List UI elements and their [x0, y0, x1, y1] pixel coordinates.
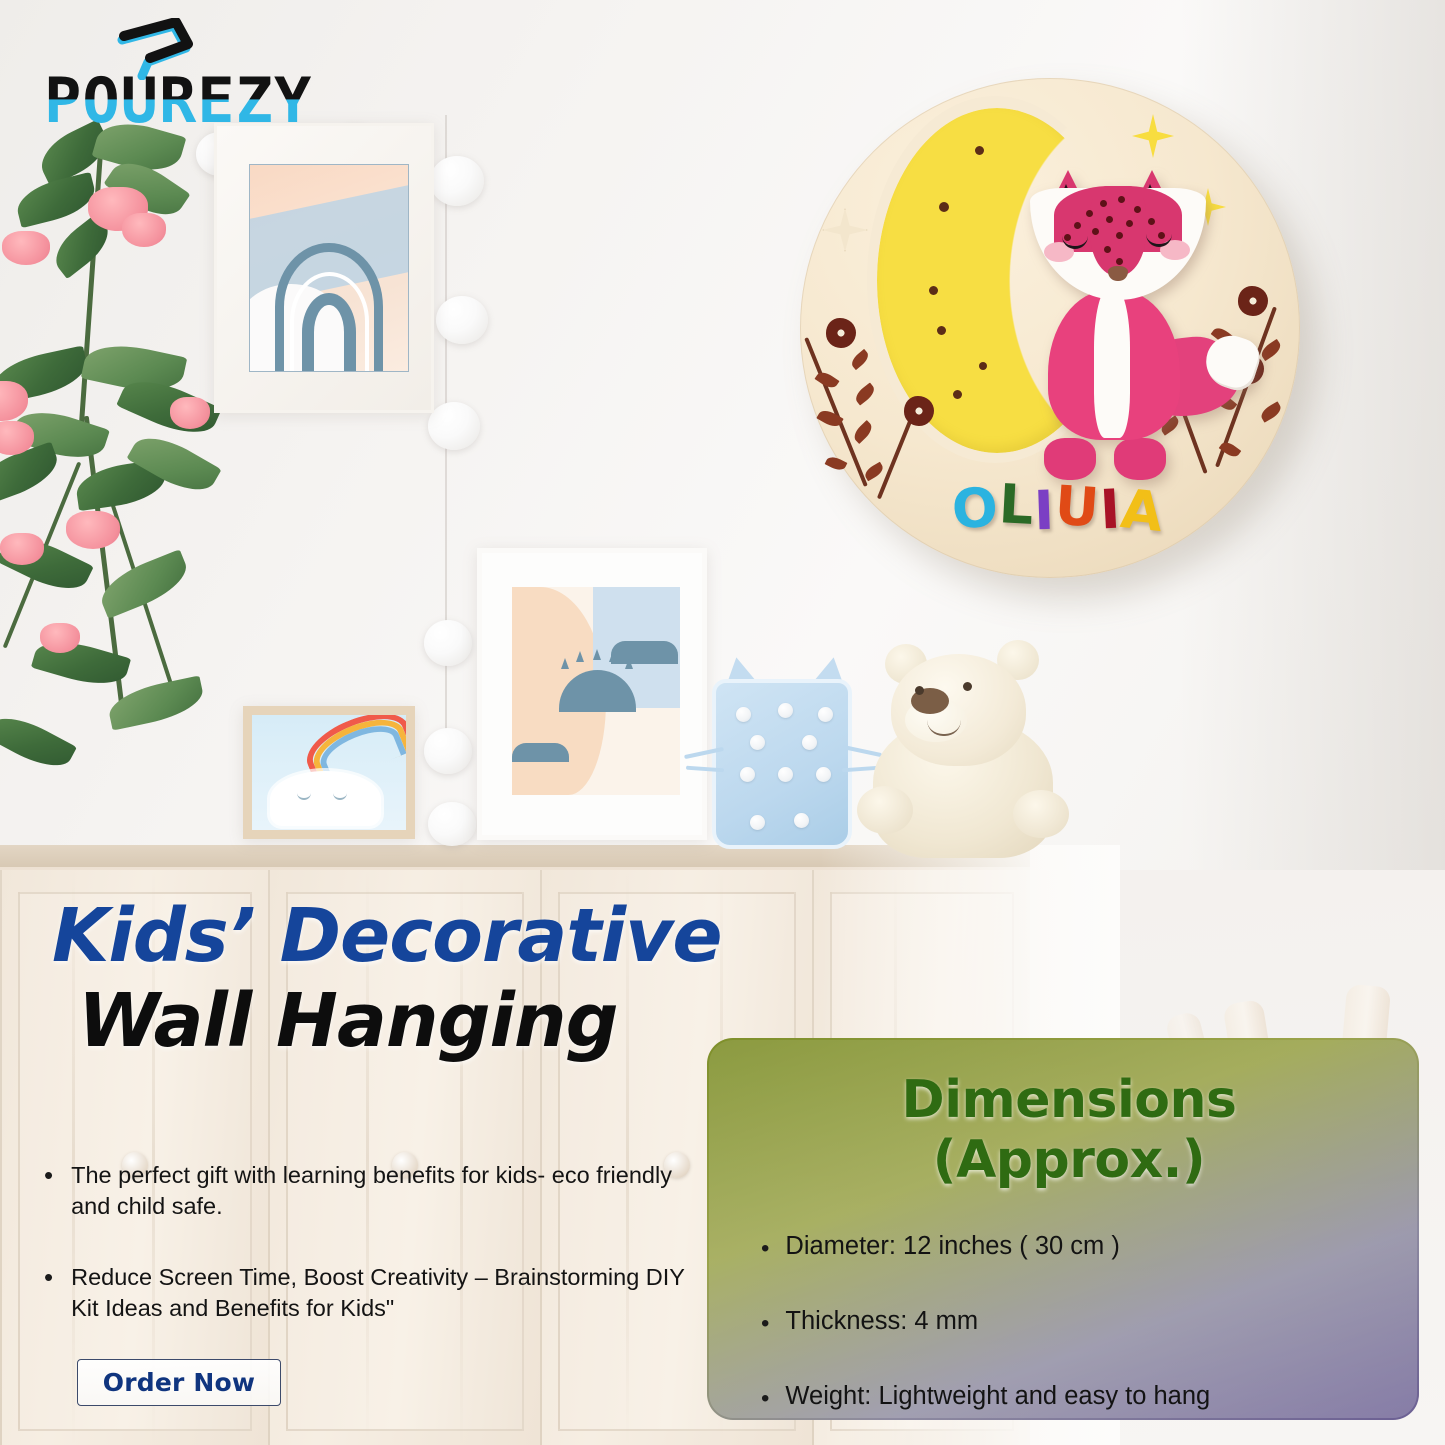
flower-sprig-left: [820, 318, 960, 498]
bullet-icon: •: [44, 1160, 53, 1222]
pom-pom-light: [428, 802, 476, 846]
pom-pom-light: [436, 296, 488, 344]
teddy-bear: [855, 640, 1070, 855]
pom-pom-light: [424, 728, 472, 774]
headline-line-2: Wall Hanging: [78, 980, 812, 1063]
brand-logo[interactable]: POUREZY: [34, 14, 364, 134]
feature-text: The perfect gift with learning benefits …: [71, 1160, 704, 1222]
name-letter: I: [1099, 483, 1121, 538]
feature-item: • The perfect gift with learning benefit…: [44, 1160, 704, 1222]
flower-icon: [1238, 286, 1268, 316]
name-letter: L: [998, 477, 1034, 533]
dimension-item: • Weight: Lightweight and easy to hang: [761, 1382, 1377, 1411]
brand-logo-text: POUREZY: [44, 70, 312, 132]
boho-rainbow-print: [214, 123, 434, 413]
dimensions-panel: Dimensions (Approx.) • Diameter: 12 inch…: [707, 1038, 1419, 1420]
sun-print: [477, 548, 707, 840]
star-icon-large: [1132, 114, 1174, 158]
dimension-text: Diameter: 12 inches ( 30 cm ): [785, 1232, 1119, 1261]
order-now-button[interactable]: Order Now: [77, 1359, 281, 1406]
dimension-text: Weight: Lightweight and easy to hang: [785, 1382, 1210, 1411]
name-letter: I: [1033, 484, 1054, 539]
bullet-icon: •: [44, 1262, 53, 1324]
fox-figure: [1018, 170, 1223, 480]
bullet-icon: •: [761, 1232, 769, 1261]
pom-pom-light: [424, 620, 472, 666]
bullet-icon: •: [761, 1307, 769, 1336]
name-letter: U: [1054, 479, 1101, 536]
feature-item: • Reduce Screen Time, Boost Creativity –…: [44, 1262, 704, 1324]
dimension-item: • Diameter: 12 inches ( 30 cm ): [761, 1232, 1377, 1261]
fox-head: [1030, 170, 1206, 300]
pom-pom-light: [428, 402, 480, 450]
dimension-item: • Thickness: 4 mm: [761, 1307, 1377, 1336]
begonia-plant: [0, 125, 230, 825]
flower-icon: [904, 396, 934, 426]
headline: Kids’ Decorative Wall Hanging: [52, 898, 812, 1063]
dimension-text: Thickness: 4 mm: [785, 1307, 978, 1336]
cat-marquee-light: [700, 655, 865, 850]
name-letter: A: [1119, 482, 1165, 540]
feature-list: • The perfect gift with learning benefit…: [44, 1160, 704, 1364]
fox-chest: [1094, 288, 1130, 438]
pom-pom-light: [430, 156, 484, 206]
personalized-name: OLIUIA: [952, 476, 1182, 538]
headline-line-1: Kids’ Decorative: [52, 898, 812, 976]
product-ad-canvas: OLIUIA POUREZY Kids’ Decorative Wall Han…: [0, 0, 1445, 1445]
name-letter: O: [950, 480, 999, 537]
bullet-icon: •: [761, 1382, 769, 1411]
cloud-rainbow-print: [243, 706, 415, 839]
flower-icon: [826, 318, 856, 348]
dimensions-title: Dimensions (Approx.): [761, 1070, 1377, 1190]
feature-text: Reduce Screen Time, Boost Creativity – B…: [71, 1262, 704, 1324]
wooden-wall-hanging-product: OLIUIA: [800, 78, 1300, 578]
engraved-star-icon: [822, 208, 868, 252]
dimensions-list: • Diameter: 12 inches ( 30 cm ) • Thickn…: [761, 1232, 1377, 1411]
